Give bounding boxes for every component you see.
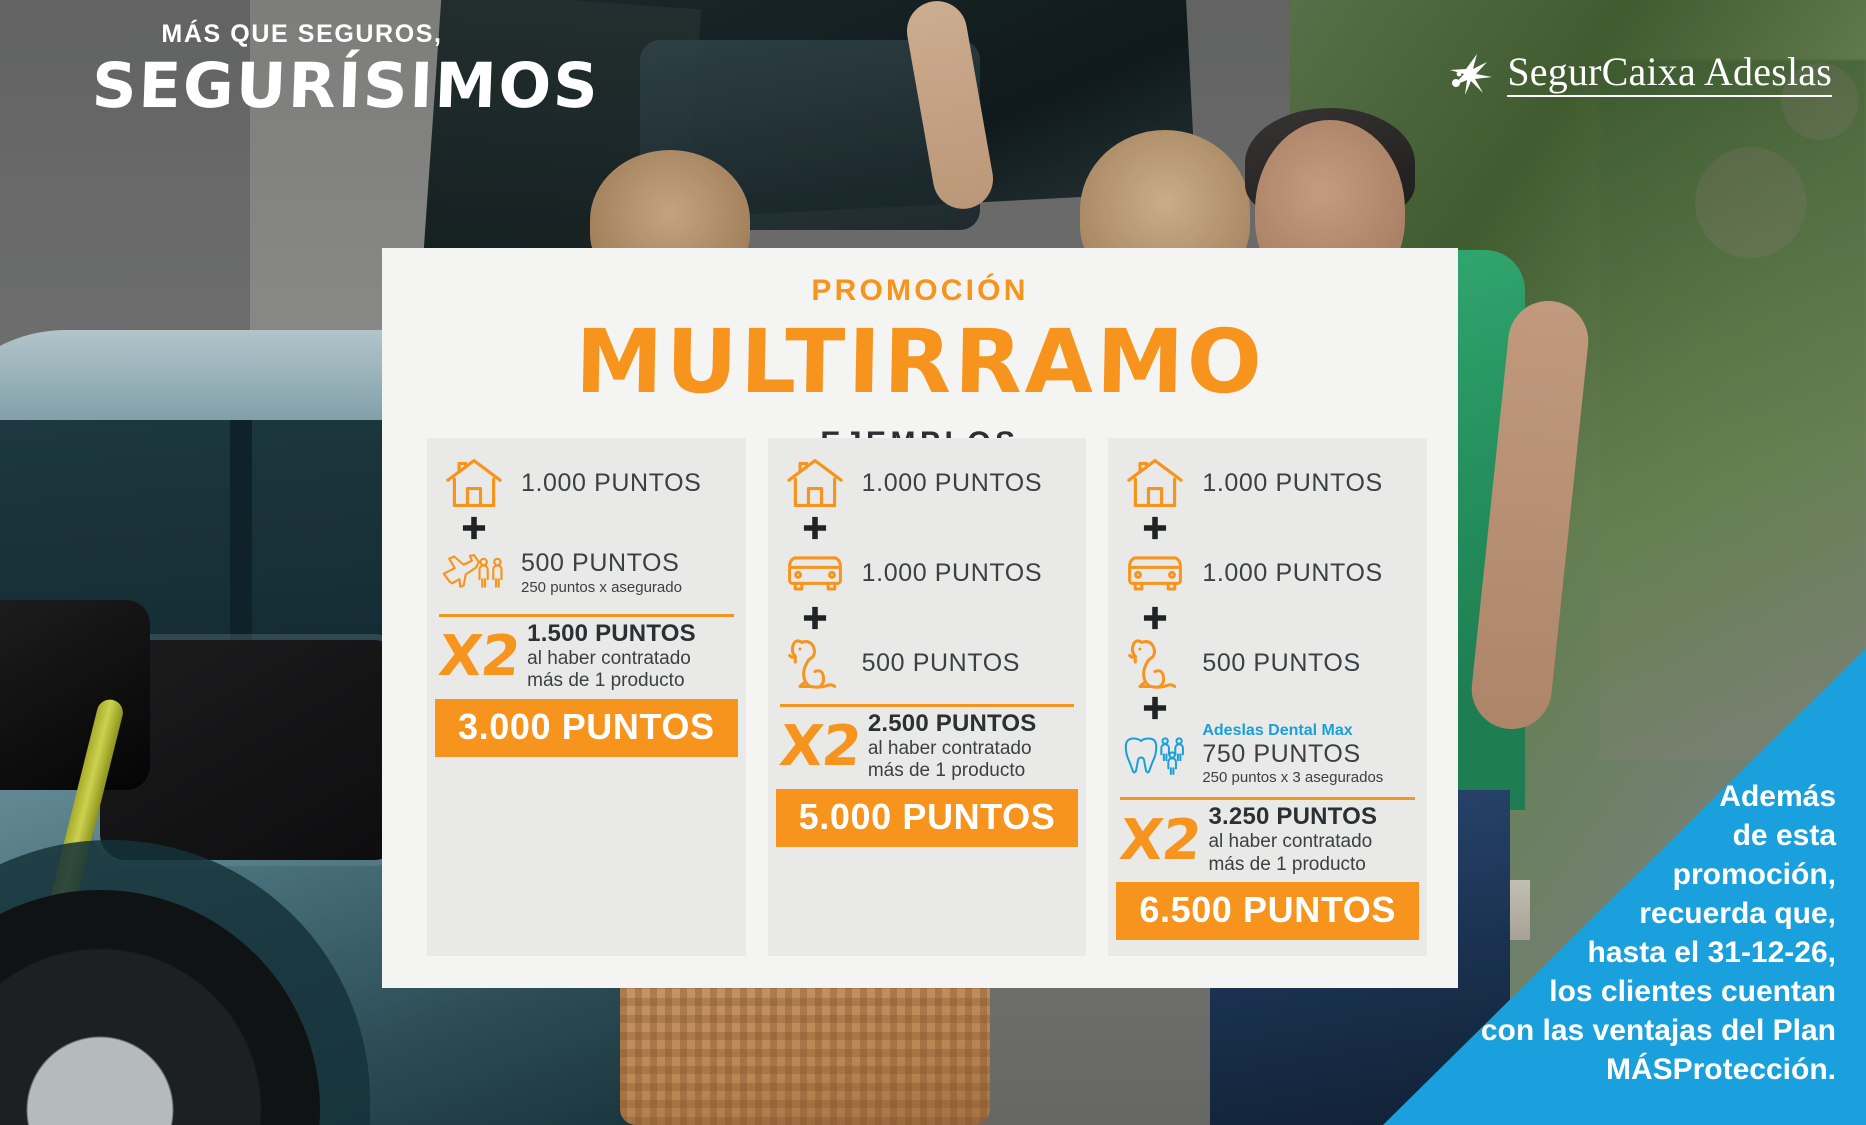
example-column: 1.000 PUNTOS500 PUNTOS250 puntos x asegu… — [427, 438, 746, 956]
product-row: Adeslas Dental Max750 PUNTOS250 puntos x… — [1122, 722, 1413, 787]
product-row: 1.000 PUNTOS — [782, 542, 1073, 604]
result-banner: 5.000 PUNTOS — [776, 789, 1079, 847]
brand-logo: SegurCaixa Adeslas — [1447, 50, 1832, 98]
plus-row — [441, 514, 732, 542]
promo-title: MULTIRRAMO — [381, 318, 1459, 406]
multiplier-badge: X2 — [777, 720, 863, 773]
corner-note-line: recuerda que, — [1396, 894, 1836, 933]
corner-note-line: promoción, — [1396, 855, 1836, 894]
plus-icon — [782, 515, 848, 541]
corner-note-line: Además — [1396, 777, 1836, 816]
tagline-line-2: SEGURÍSIMOS — [91, 53, 513, 118]
example-rows: 1.000 PUNTOS1.000 PUNTOS500 PUNTOS — [768, 452, 1087, 694]
condition-line-2: más de 1 producto — [1208, 854, 1377, 876]
row-points: 500 PUNTOS — [862, 649, 1020, 678]
condition-line-1: al haber contratado — [527, 648, 696, 670]
dog-icon — [782, 633, 848, 693]
tagline: MÁS QUE SEGUROS, SEGURÍSIMOS — [92, 22, 512, 118]
product-row: 1.000 PUNTOS — [1122, 542, 1413, 604]
car-icon — [782, 550, 848, 596]
plus-row — [782, 514, 1073, 542]
tagline-line-1: MÁS QUE SEGUROS, — [92, 22, 512, 47]
multiplier-badge: X2 — [1118, 814, 1204, 867]
row-points: 750 PUNTOS — [1202, 740, 1383, 769]
row-text: 500 PUNTOS — [862, 649, 1020, 678]
subtotal-text: 1.500 PUNTOSal haber contratadomás de 1 … — [527, 621, 696, 693]
subtotal-block: X21.500 PUNTOSal haber contratadomás de … — [427, 617, 746, 693]
row-text: 1.000 PUNTOS — [862, 469, 1042, 498]
example-column: 1.000 PUNTOS1.000 PUNTOS500 PUNTOSX22.50… — [768, 438, 1087, 956]
product-brand-label: Adeslas Dental Max — [1202, 722, 1383, 740]
row-text: 1.000 PUNTOS — [1202, 559, 1382, 588]
row-points: 500 PUNTOS — [1202, 649, 1360, 678]
subtotal-text: 3.250 PUNTOSal haber contratadomás de 1 … — [1208, 804, 1377, 876]
condition-line-1: al haber contratado — [868, 738, 1037, 760]
example-rows: 1.000 PUNTOS500 PUNTOS250 puntos x asegu… — [427, 452, 746, 604]
house-icon — [441, 455, 507, 511]
promo-card: PROMOCIÓN MULTIRRAMO EJEMPLOS 1.000 PUNT… — [382, 248, 1458, 988]
examples-container: 1.000 PUNTOS500 PUNTOS250 puntos x asegu… — [427, 438, 1427, 956]
product-row: 500 PUNTOS250 puntos x asegurado — [441, 542, 732, 604]
row-text: 1.000 PUNTOS — [862, 559, 1042, 588]
corner-note-line: MÁSProtección. — [1396, 1050, 1836, 1089]
plus-icon — [1122, 605, 1188, 631]
row-points: 1.000 PUNTOS — [1202, 559, 1382, 588]
corner-note-text: Ademásde estapromoción,recuerda que,hast… — [1396, 777, 1836, 1089]
example-rows: 1.000 PUNTOS1.000 PUNTOS500 PUNTOSAdesla… — [1108, 452, 1427, 787]
row-text: Adeslas Dental Max750 PUNTOS250 puntos x… — [1202, 722, 1383, 787]
plus-row — [1122, 604, 1413, 632]
row-points: 1.000 PUNTOS — [521, 469, 701, 498]
product-row: 1.000 PUNTOS — [782, 452, 1073, 514]
promo-kicker: PROMOCIÓN — [382, 274, 1458, 308]
plus-row — [782, 604, 1073, 632]
subtotal-block: X22.500 PUNTOSal haber contratadomás de … — [768, 707, 1087, 783]
row-text: 1.000 PUNTOS — [521, 469, 701, 498]
example-column: 1.000 PUNTOS1.000 PUNTOS500 PUNTOSAdesla… — [1108, 438, 1427, 956]
corner-note-line: hasta el 31-12-26, — [1396, 933, 1836, 972]
result-banner: 3.000 PUNTOS — [435, 699, 738, 757]
house-icon — [782, 455, 848, 511]
row-text: 1.000 PUNTOS — [1202, 469, 1382, 498]
subtotal-points: 3.250 PUNTOS — [1208, 804, 1377, 831]
plus-icon — [441, 515, 507, 541]
product-row: 1.000 PUNTOS — [441, 452, 732, 514]
row-note: 250 puntos x 3 asegurados — [1202, 769, 1383, 787]
plus-icon — [782, 605, 848, 631]
corner-note-line: de esta — [1396, 816, 1836, 855]
condition-line-2: más de 1 producto — [527, 670, 696, 692]
row-points: 1.000 PUNTOS — [1202, 469, 1382, 498]
multiplier-badge: X2 — [436, 630, 522, 683]
house-icon — [1122, 455, 1188, 511]
dog-icon — [1122, 633, 1188, 693]
condition-line-2: más de 1 producto — [868, 760, 1037, 782]
plus-icon — [1122, 695, 1188, 721]
brand-name: SegurCaixa Adeslas — [1507, 51, 1832, 97]
plus-icon — [1122, 515, 1188, 541]
subtotal-points: 1.500 PUNTOS — [527, 621, 696, 648]
row-points: 500 PUNTOS — [521, 549, 682, 578]
row-text: 500 PUNTOS250 puntos x asegurado — [521, 549, 682, 597]
product-row: 500 PUNTOS — [1122, 632, 1413, 694]
row-points: 1.000 PUNTOS — [862, 559, 1042, 588]
promo-banner: MÁS QUE SEGUROS, SEGURÍSIMOS SegurCaixa … — [0, 0, 1866, 1125]
subtotal-block: X23.250 PUNTOSal haber contratadomás de … — [1108, 800, 1427, 876]
subtotal-points: 2.500 PUNTOS — [868, 711, 1037, 738]
caixabank-star-icon — [1447, 50, 1495, 98]
corner-note-line: con las ventajas del Plan — [1396, 1011, 1836, 1050]
corner-note-line: los clientes cuentan — [1396, 972, 1836, 1011]
condition-line-1: al haber contratado — [1208, 831, 1377, 853]
product-row: 500 PUNTOS — [782, 632, 1073, 694]
plane-family-icon — [441, 545, 507, 601]
product-row: 1.000 PUNTOS — [1122, 452, 1413, 514]
row-points: 1.000 PUNTOS — [862, 469, 1042, 498]
car-icon — [1122, 550, 1188, 596]
result-banner: 6.500 PUNTOS — [1116, 882, 1419, 940]
row-note: 250 puntos x asegurado — [521, 579, 682, 597]
plus-row — [1122, 514, 1413, 542]
tooth-family-icon — [1122, 725, 1188, 785]
plus-row — [1122, 694, 1413, 722]
subtotal-text: 2.500 PUNTOSal haber contratadomás de 1 … — [868, 711, 1037, 783]
row-text: 500 PUNTOS — [1202, 649, 1360, 678]
